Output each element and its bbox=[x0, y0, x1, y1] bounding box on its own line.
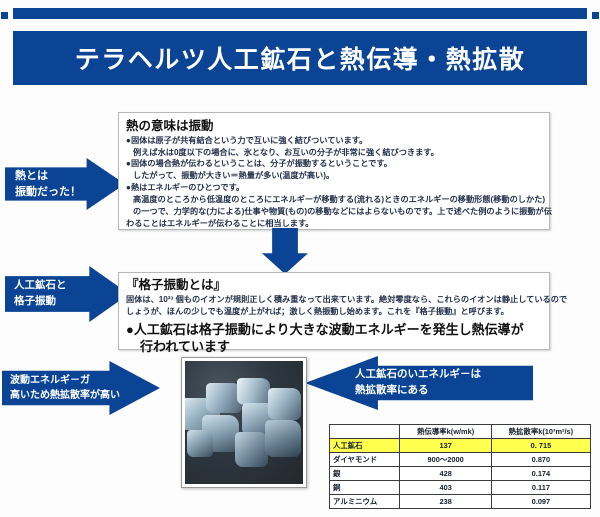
slide-canvas: テラヘルツ人工鉱石と熱伝導・熱拡散 熱とは 振動だった！ 熱の意味は振動 ●固体… bbox=[0, 0, 600, 517]
table-row: アルミニウム 238 0.097 bbox=[330, 495, 591, 509]
cell-material: 人工鉱石 bbox=[330, 439, 400, 453]
callout-heat-line-1: 熱とは bbox=[15, 168, 125, 185]
cell-diffusivity: 0.174 bbox=[491, 467, 590, 481]
table-header-row: 熱伝導率k(w/mk) 熱拡散率k(10³m²/s) bbox=[330, 425, 591, 439]
panel-heat-line-6: 高温度のところから低温度のところにエネルギーが移動する(流れる)ときのエネルギー… bbox=[126, 194, 542, 206]
table-header-conductivity: 熱伝導率k(w/mk) bbox=[400, 425, 491, 439]
slide-title-band: テラヘルツ人工鉱石と熱伝導・熱拡散 bbox=[13, 31, 587, 85]
cell-material: ダイヤモンド bbox=[330, 453, 400, 467]
table-header-material bbox=[330, 425, 400, 439]
callout-wave-line-2: 高いため熱拡散率が高い bbox=[10, 388, 160, 403]
callout-thermal-line-1: 人工鉱石のいエネルギ－は bbox=[355, 367, 533, 383]
table-row: 銀 428 0.174 bbox=[330, 467, 591, 481]
callout-wave-energy: 波動エネルギ－ガ 高いため熱拡散率が高い bbox=[2, 361, 160, 415]
table-header-diffusivity: 熱拡散率k(10³m²/s) bbox=[491, 425, 590, 439]
thermal-properties-table-wrap: 熱伝導率k(w/mk) 熱拡散率k(10³m²/s) 人工鉱石 137 0. 7… bbox=[329, 424, 591, 509]
callout-heat-is-vibration: 熱とは 振動だった！ bbox=[5, 158, 125, 210]
ore-photo-frame bbox=[181, 357, 307, 488]
panel-heat-line-2: 例えば水は0度以下の場合に、氷となり、お互いの分子が非常に強く結びつきます。 bbox=[126, 147, 542, 159]
ore-photo bbox=[185, 361, 303, 484]
accent-bar bbox=[13, 8, 587, 19]
panel-heat-line-3: ●固体の場合熱が伝わるということは、分子が振動するということです。 bbox=[126, 158, 542, 170]
panel-heat-line-5: ●熱はエネルギーのひとつです。 bbox=[126, 182, 542, 194]
table-row: ダイヤモンド 900～2000 0.870 bbox=[330, 453, 591, 467]
cell-diffusivity: 0.870 bbox=[491, 453, 590, 467]
panel-lattice-title: 『格子振動とは』 bbox=[126, 278, 542, 294]
callout-ore-lattice-vibration: 人工鉱石と 格子振動 bbox=[5, 266, 129, 322]
panel-heat-line-8: わることはエネルギーが伝わることに相当します。 bbox=[126, 218, 542, 230]
thermal-properties-table: 熱伝導率k(w/mk) 熱拡散率k(10³m²/s) 人工鉱石 137 0. 7… bbox=[329, 424, 591, 509]
cell-conductivity: 428 bbox=[400, 467, 491, 481]
callout-lattice-line-1: 人工鉱石と bbox=[14, 278, 129, 294]
arrow-down-icon bbox=[262, 228, 308, 274]
cell-conductivity: 238 bbox=[400, 495, 491, 509]
panel-lattice-line-2: しょうが、ほんの少しでも温度が上がれば；激しく熱振動し始めます。これを『格子振動… bbox=[126, 306, 542, 318]
page-title: テラヘルツ人工鉱石と熱伝導・熱拡散 bbox=[75, 40, 526, 76]
callout-wave-line-1: 波動エネルギ－ガ bbox=[10, 373, 160, 388]
cell-diffusivity: 0.097 bbox=[491, 495, 590, 509]
cell-diffusivity: 0.117 bbox=[491, 481, 590, 495]
panel-heat-meaning: 熱の意味は振動 ●固体は原子が共有結合という力で互いに強く結びついています。 例… bbox=[118, 112, 550, 230]
accent-square-right bbox=[592, 12, 599, 19]
cell-conductivity: 403 bbox=[400, 481, 491, 495]
table-row: 銅 403 0.117 bbox=[330, 481, 591, 495]
callout-heat-line-2: 振動だった！ bbox=[15, 184, 125, 201]
panel-lattice-vibration: 『格子振動とは』 固体は、10²³ 個ものイオンが規則正しく積み重なって出来てい… bbox=[118, 272, 550, 350]
callout-lattice-line-2: 格子振動 bbox=[14, 294, 129, 310]
cell-conductivity: 137 bbox=[400, 439, 491, 453]
panel-heat-line-4: したがって、振動が大きい＝熱量が多い(温度が高い)。 bbox=[126, 170, 542, 182]
cell-material: 銀 bbox=[330, 467, 400, 481]
cell-material: アルミニウム bbox=[330, 495, 400, 509]
callout-thermal-line-2: 熱拡散率にある bbox=[355, 383, 533, 399]
panel-lattice-emphasis-1: ●人工鉱石は格子振動により大きな波動エネルギーを発生し熱伝導が bbox=[126, 322, 542, 339]
panel-heat-line-7: の一つで、力学的な(力による)仕事や物質(もの)の移動などにはよらないものです。… bbox=[126, 206, 542, 218]
accent-square-left bbox=[1, 12, 8, 19]
top-accent-bar bbox=[0, 6, 600, 20]
callout-thermal-diffusivity: 人工鉱石のいエネルギ－は 熱拡散率にある bbox=[305, 356, 533, 410]
panel-lattice-emphasis-2: 行われています bbox=[126, 339, 542, 356]
cell-conductivity: 900～2000 bbox=[400, 453, 491, 467]
panel-heat-line-1: ●固体は原子が共有結合という力で互いに強く結びついています。 bbox=[126, 135, 542, 147]
cell-material: 銅 bbox=[330, 481, 400, 495]
panel-heat-title: 熱の意味は振動 bbox=[126, 119, 542, 135]
table-row: 人工鉱石 137 0. 715 bbox=[330, 439, 591, 453]
cell-diffusivity: 0. 715 bbox=[491, 439, 590, 453]
panel-lattice-line-1: 固体は、10²³ 個ものイオンが規則正しく積み重なって出来ています。絶対零度なら… bbox=[126, 294, 542, 306]
